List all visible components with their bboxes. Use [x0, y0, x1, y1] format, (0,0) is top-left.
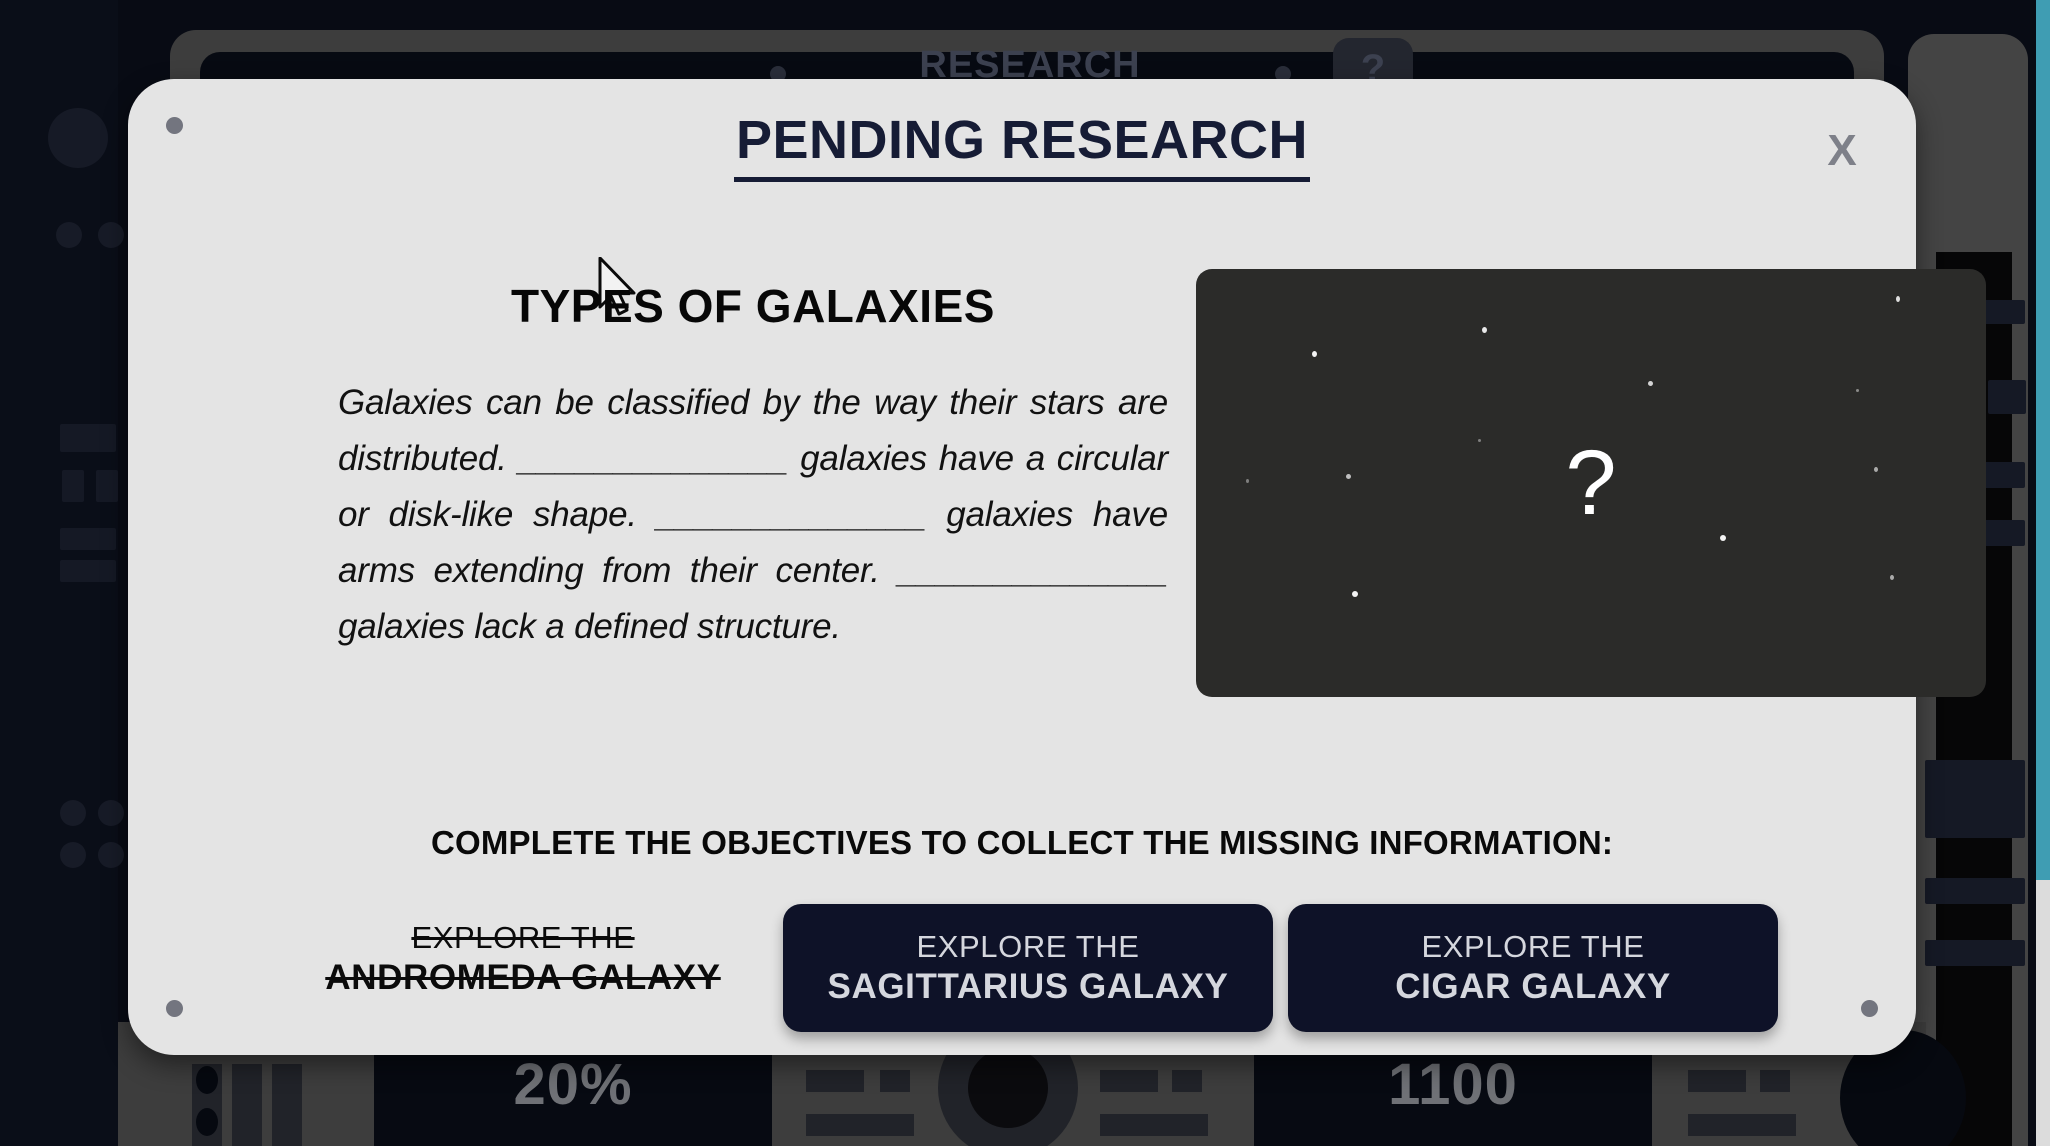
pending-research-modal: X PENDING RESEARCH TYPES OF GALAXIES Gal… [128, 79, 1916, 1055]
background-accent-tail [2036, 880, 2050, 1146]
research-topic-heading: TYPES OF GALAXIES [338, 279, 1168, 333]
background-right-bar [1925, 878, 2025, 904]
screw-dot-bottom-right [1861, 1000, 1878, 1017]
background-rail-bar [60, 560, 116, 582]
objective-target: SAGITTARIUS GALAXY [828, 966, 1229, 1009]
objective-target: CIGAR GALAXY [1395, 966, 1671, 1009]
objective-prefix: EXPLORE THE [916, 928, 1139, 966]
background-widget-block [232, 1064, 262, 1146]
background-right-bar [1925, 940, 2025, 966]
background-widget-block [1100, 1114, 1208, 1136]
background-widget-block [272, 1064, 302, 1146]
objective-prefix: EXPLORE THE [1421, 928, 1644, 966]
preview-placeholder: ? [1196, 269, 1986, 697]
background-rail-bar [62, 470, 84, 502]
background-rail-circle [48, 108, 108, 168]
background-rail-dot [98, 800, 124, 826]
background-accent-strip [2036, 0, 2050, 880]
background-widget-block [806, 1114, 914, 1136]
objective-target: ANDROMEDA GALAXY [325, 957, 720, 1000]
background-widget-block [1760, 1070, 1790, 1092]
background-widget-dot [196, 1066, 218, 1094]
background-widget-dot [196, 1108, 218, 1136]
background-dial-center [968, 1048, 1048, 1128]
research-text-column: TYPES OF GALAXIES Galaxies can be classi… [338, 279, 1168, 655]
background-widget-block [1688, 1114, 1796, 1136]
research-description: Galaxies can be classified by the way th… [338, 375, 1168, 655]
background-rail-bar [60, 424, 116, 452]
background-widget-block [1172, 1070, 1202, 1092]
background-rail-dot [98, 222, 124, 248]
background-rail-dot [60, 842, 86, 868]
objective-sagittarius[interactable]: EXPLORE THE SAGITTARIUS GALAXY [783, 904, 1273, 1032]
page-title: PENDING RESEARCH [128, 109, 1916, 182]
objectives-instruction: COMPLETE THE OBJECTIVES TO COLLECT THE M… [128, 824, 1916, 862]
modal-content: TYPES OF GALAXIES Galaxies can be classi… [128, 279, 1916, 749]
objectives-list: EXPLORE THE ANDROMEDA GALAXY EXPLORE THE… [278, 904, 1778, 1044]
screw-dot-bottom-left [166, 1000, 183, 1017]
background-widget-block [1688, 1070, 1746, 1092]
app-root: RESEARCH ? 20% 1100 [0, 0, 2050, 1146]
page-title-text: PENDING RESEARCH [734, 109, 1310, 182]
background-right-bar [1988, 380, 2026, 414]
research-image-preview: ? [1196, 269, 1986, 697]
background-rail-dot [98, 842, 124, 868]
background-rail-dot [56, 222, 82, 248]
background-rail-bar [60, 528, 116, 550]
background-widget-block [1100, 1070, 1158, 1092]
background-rail-bar [96, 470, 118, 502]
background-widget-block [806, 1070, 864, 1092]
background-right-bar [1925, 760, 2025, 838]
objective-cigar[interactable]: EXPLORE THE CIGAR GALAXY [1288, 904, 1778, 1032]
objective-prefix: EXPLORE THE [411, 919, 634, 957]
background-widget-block [880, 1070, 910, 1092]
objective-andromeda[interactable]: EXPLORE THE ANDROMEDA GALAXY [278, 904, 768, 1014]
background-rail-dot [60, 800, 86, 826]
